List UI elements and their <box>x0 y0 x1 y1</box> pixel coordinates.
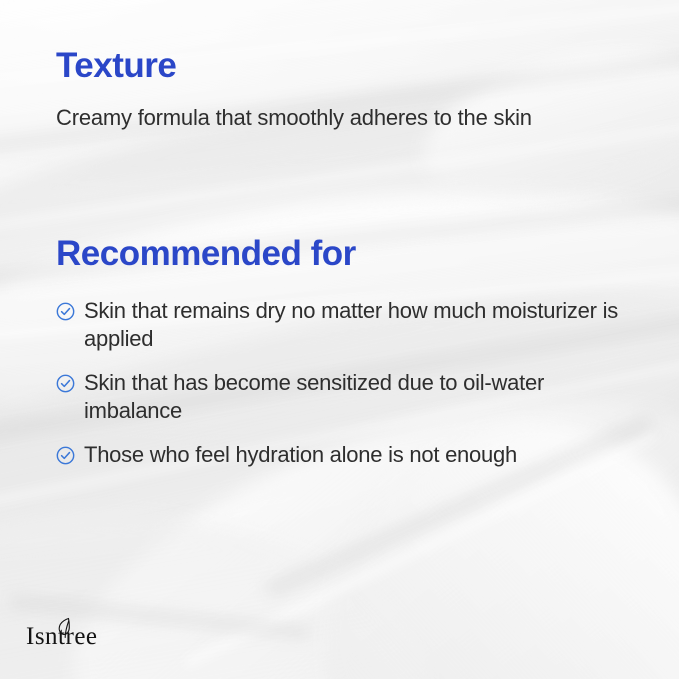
brand-logo: Isntree <box>26 623 98 651</box>
leaf-icon <box>56 617 72 644</box>
list-item-label: Skin that remains dry no matter how much… <box>84 297 623 353</box>
list-item-label: Skin that has become sensitized due to o… <box>84 369 623 425</box>
texture-heading: Texture <box>56 0 623 86</box>
list-item: Skin that remains dry no matter how much… <box>56 297 623 353</box>
list-item: Those who feel hydration alone is not en… <box>56 441 623 469</box>
check-circle-icon <box>56 374 75 393</box>
product-info-panel: Texture Creamy formula that smoothly adh… <box>0 0 679 679</box>
recommended-list: Skin that remains dry no matter how much… <box>56 297 623 470</box>
check-circle-icon <box>56 446 75 465</box>
recommended-heading: Recommended for <box>56 235 623 274</box>
check-circle-icon <box>56 302 75 321</box>
list-item-label: Those who feel hydration alone is not en… <box>84 441 517 469</box>
list-item: Skin that has become sensitized due to o… <box>56 369 623 425</box>
texture-description: Creamy formula that smoothly adheres to … <box>56 104 623 133</box>
content-container: Texture Creamy formula that smoothly adh… <box>0 0 679 469</box>
